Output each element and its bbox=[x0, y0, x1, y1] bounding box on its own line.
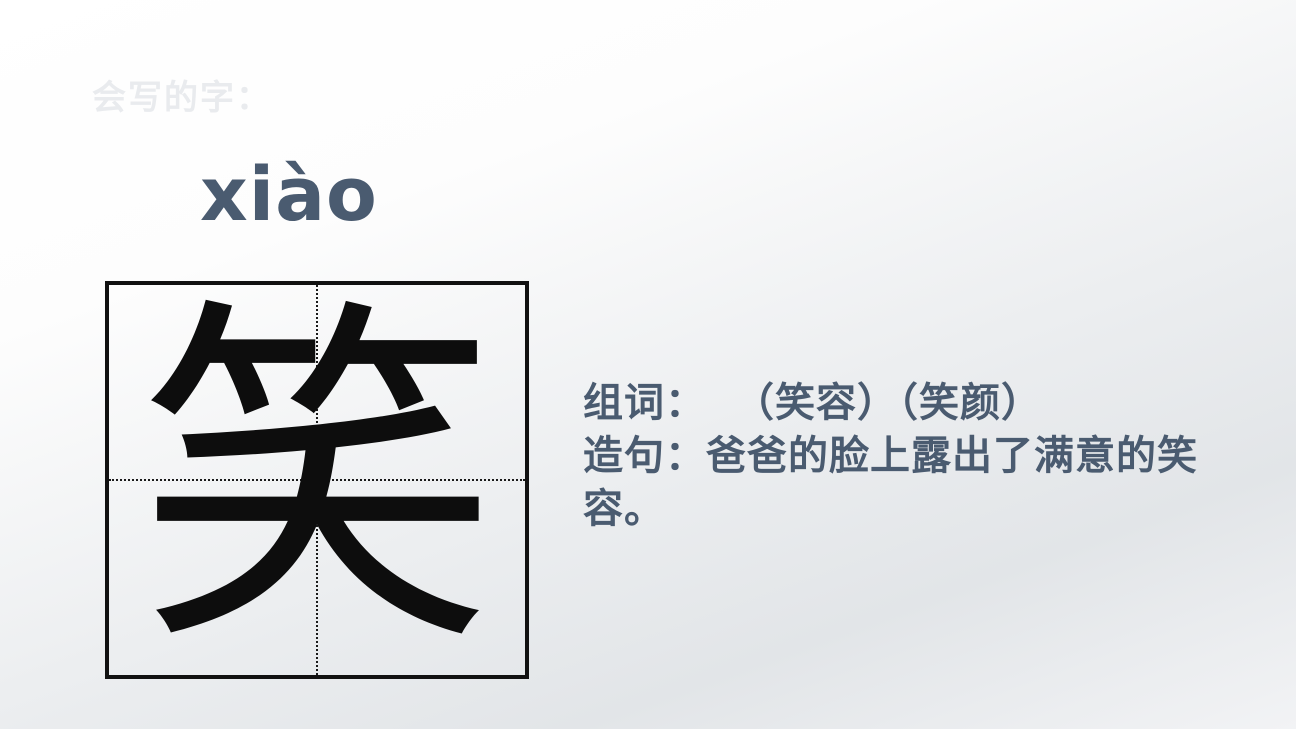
sentence-label: 造句： bbox=[583, 434, 706, 478]
vocabulary-line: 组词：（笑容）（笑颜） bbox=[583, 377, 1263, 430]
explanation-text-block: 组词：（笑容）（笑颜） 造句：爸爸的脸上露出了满意的笑容。 bbox=[583, 377, 1263, 535]
sentence-line: 造句：爸爸的脸上露出了满意的笑容。 bbox=[583, 430, 1263, 536]
vocabulary-label: 组词： bbox=[583, 381, 706, 425]
slide-title: 会写的字： bbox=[92, 70, 272, 119]
slide-canvas: 会写的字： xiào 笑 组词：（笑容）（笑颜） 造句：爸爸的脸上露出了满意的笑… bbox=[0, 0, 1296, 729]
pinyin-label: xiào bbox=[200, 158, 378, 232]
tianzige-grid: 笑 bbox=[105, 281, 529, 679]
vocabulary-words: （笑容）（笑颜） bbox=[734, 381, 1042, 425]
character-glyph: 笑 bbox=[109, 300, 525, 660]
